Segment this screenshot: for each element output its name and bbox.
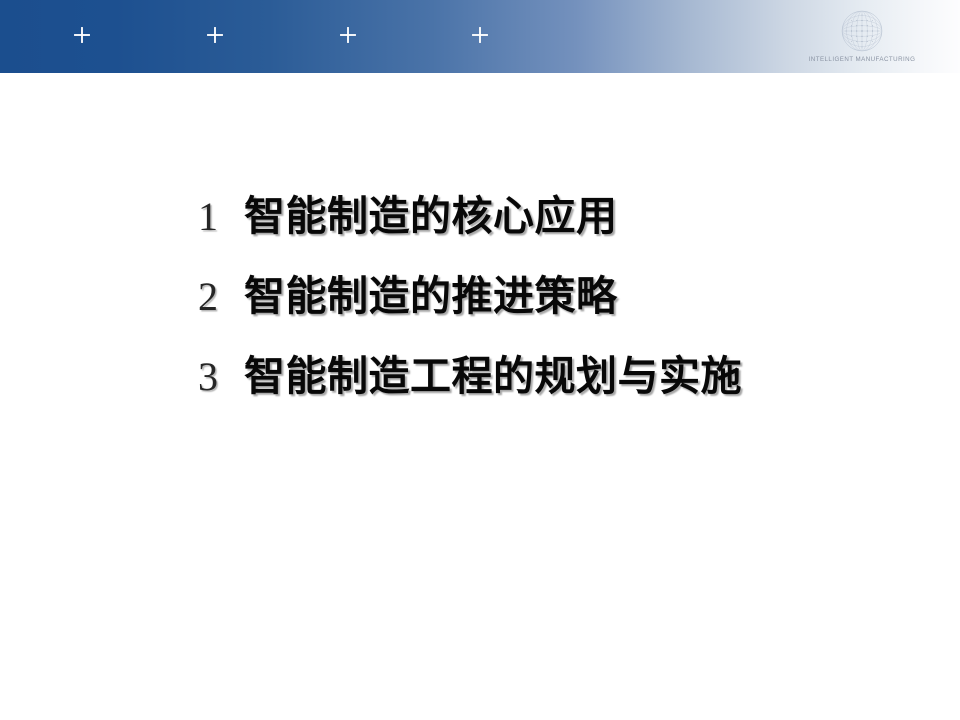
plus-icon xyxy=(471,26,489,44)
agenda-item-number: 3 xyxy=(198,357,244,397)
header-band: INTELLIGENT MANUFACTURING xyxy=(0,0,960,73)
plus-icon xyxy=(206,26,224,44)
agenda-item-number: 1 xyxy=(198,197,244,237)
plus-icon xyxy=(73,26,91,44)
agenda-item-1[interactable]: 1 智能制造的核心应用 xyxy=(0,196,960,276)
agenda-item-title: 智能制造工程的规划与实施 xyxy=(244,356,742,397)
globe-network-icon xyxy=(837,6,887,56)
agenda-item-title: 智能制造的核心应用 xyxy=(244,196,618,237)
agenda-item-title: 智能制造的推进策略 xyxy=(244,276,618,317)
agenda-item-number: 2 xyxy=(198,277,244,317)
brand-logo: INTELLIGENT MANUFACTURING xyxy=(802,6,922,72)
agenda-list: 1 智能制造的核心应用 2 智能制造的推进策略 3 智能制造工程的规划与实施 xyxy=(0,196,960,436)
agenda-item-3[interactable]: 3 智能制造工程的规划与实施 xyxy=(0,356,960,436)
presentation-slide: INTELLIGENT MANUFACTURING 1 智能制造的核心应用 2 … xyxy=(0,0,960,720)
brand-name: INTELLIGENT MANUFACTURING xyxy=(809,57,916,63)
agenda-item-2[interactable]: 2 智能制造的推进策略 xyxy=(0,276,960,356)
plus-icon xyxy=(339,26,357,44)
